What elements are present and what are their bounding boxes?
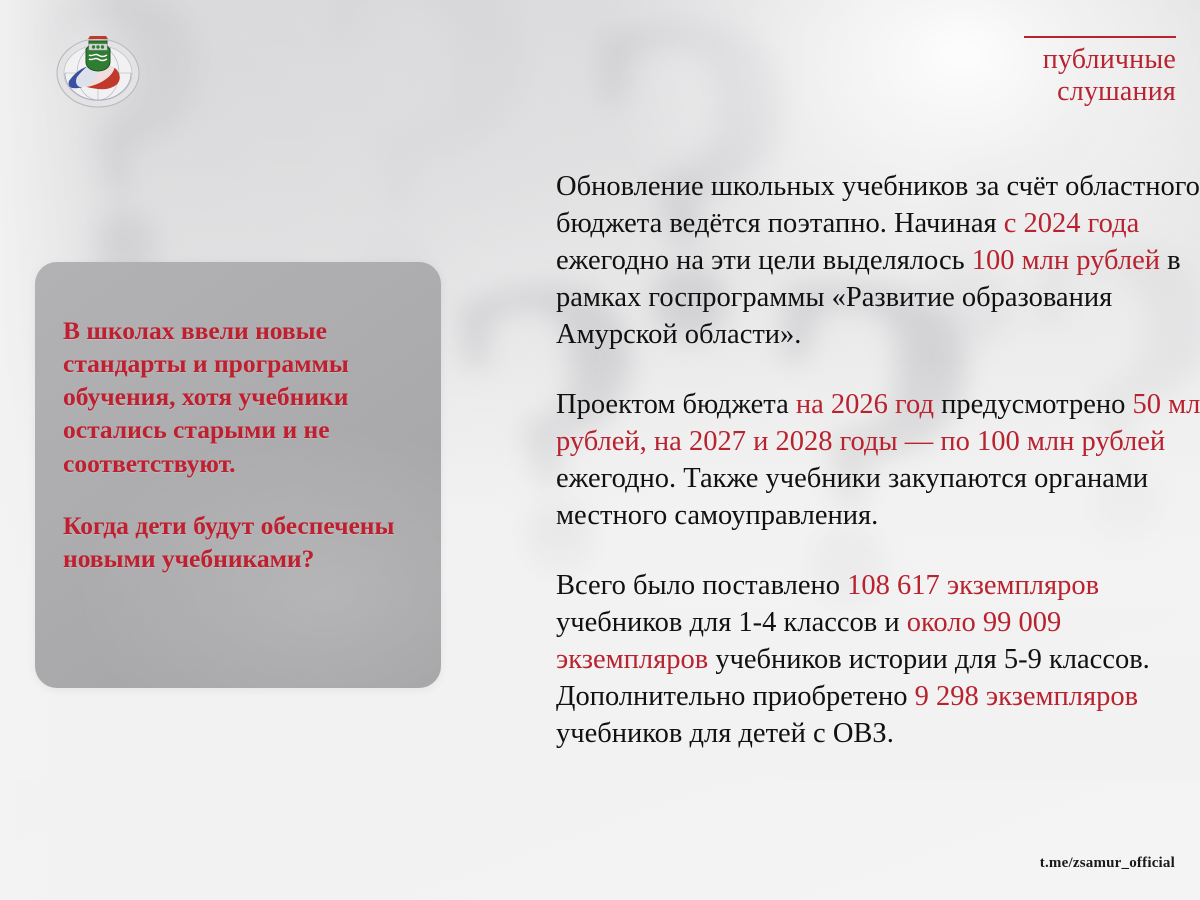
body-text-run: учебников для 1-4 классов и	[556, 607, 907, 638]
body-highlight-run: с 2024 года	[1004, 208, 1139, 239]
body-highlight-run: 108 617 экземпляров	[847, 570, 1099, 601]
body-paragraph-3: Всего было поставлено 108 617 экземпляро…	[556, 567, 1200, 752]
assembly-emblem-logo	[55, 33, 141, 109]
header-title-line2: слушания	[846, 76, 1176, 108]
body-paragraph-2: Проектом бюджета на 2026 год предусмотре…	[556, 386, 1200, 534]
body-text-run: учебников для детей с ОВЗ.	[556, 718, 894, 749]
header-title-line1: публичные	[846, 44, 1176, 76]
body-text-run: предусмотрено	[934, 389, 1133, 420]
body-text-run: ежегодно на эти цели выделялось	[556, 245, 972, 276]
question-card: В школах ввели новые стандарты и програм…	[35, 262, 441, 688]
slide-canvas: ???????? публ	[0, 0, 1200, 900]
body-text-block: Обновление школьных учебников за счёт об…	[556, 168, 1200, 752]
header-block: публичные слушания	[846, 36, 1176, 109]
body-highlight-run: 9 298 экземпляров	[915, 681, 1138, 712]
footer-telegram-handle[interactable]: t.me/zsamur_official	[1040, 855, 1175, 872]
header-rule	[1024, 36, 1176, 38]
body-highlight-run: на 2026 год	[796, 389, 934, 420]
question-card-paragraph-1: В школах ввели новые стандарты и програм…	[63, 314, 415, 480]
question-card-paragraph-2: Когда дети будут обеспечены новыми учебн…	[63, 509, 415, 575]
body-text-run: ежегодно. Также учебники закупаются орга…	[556, 463, 1148, 531]
body-text-run: Проектом бюджета	[556, 389, 796, 420]
body-highlight-run: 100 млн рублей	[972, 245, 1160, 276]
body-paragraph-1: Обновление школьных учебников за счёт об…	[556, 168, 1200, 353]
body-text-run: Всего было поставлено	[556, 570, 847, 601]
